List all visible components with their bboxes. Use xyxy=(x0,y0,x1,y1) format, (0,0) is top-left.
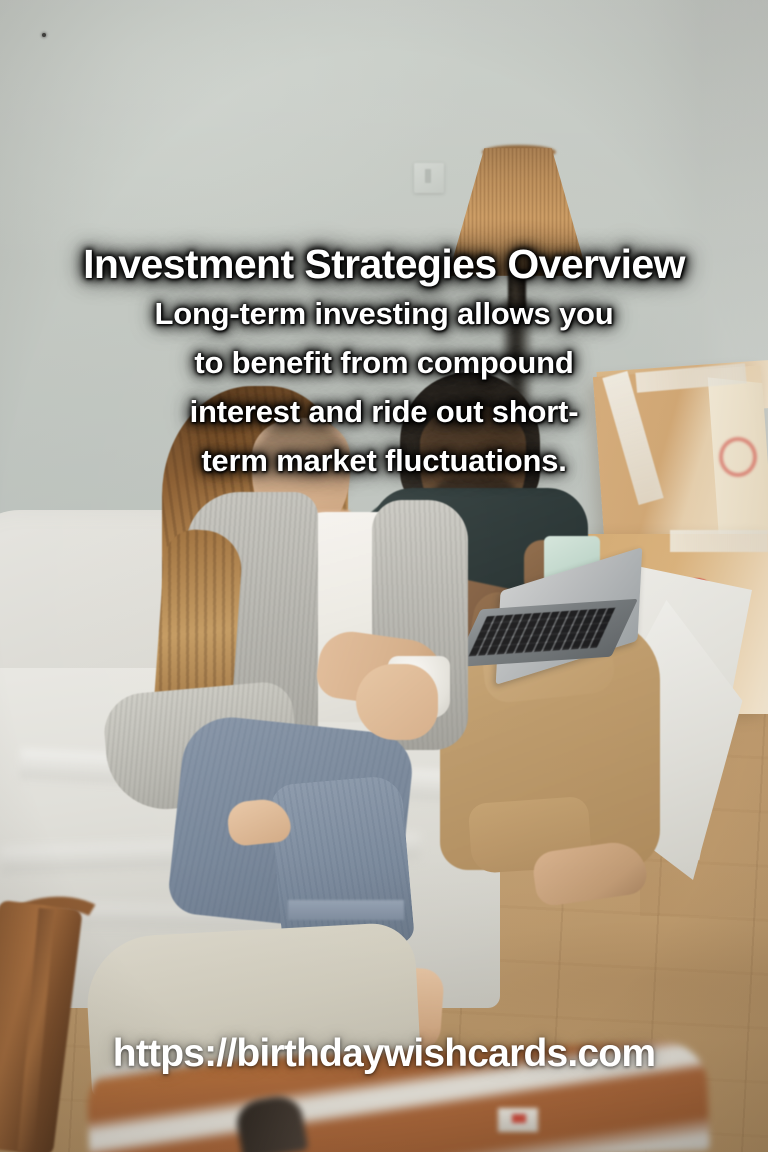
body-line-1: Long-term investing allows you xyxy=(110,290,658,339)
packing-tape xyxy=(670,530,768,552)
woman-hands xyxy=(356,664,438,740)
suitcase-latch-indicator xyxy=(512,1114,526,1123)
light-switch-toggle xyxy=(425,169,431,183)
woman-jeans-frayed-hem xyxy=(288,900,404,920)
body-line-3: interest and ride out short- xyxy=(110,388,658,437)
poster-canvas: H xyxy=(0,0,768,1152)
body-paragraph: Long-term investing allows you to benefi… xyxy=(110,290,658,486)
wall-speck xyxy=(42,33,46,37)
site-url-watermark[interactable]: https://birthdaywishcards.com xyxy=(0,1032,768,1076)
body-line-2: to benefit from compound xyxy=(110,339,658,388)
box-logo-faint xyxy=(719,437,757,477)
page-title: Investment Strategies Overview xyxy=(0,243,768,286)
body-line-4: term market fluctuations. xyxy=(110,437,658,486)
